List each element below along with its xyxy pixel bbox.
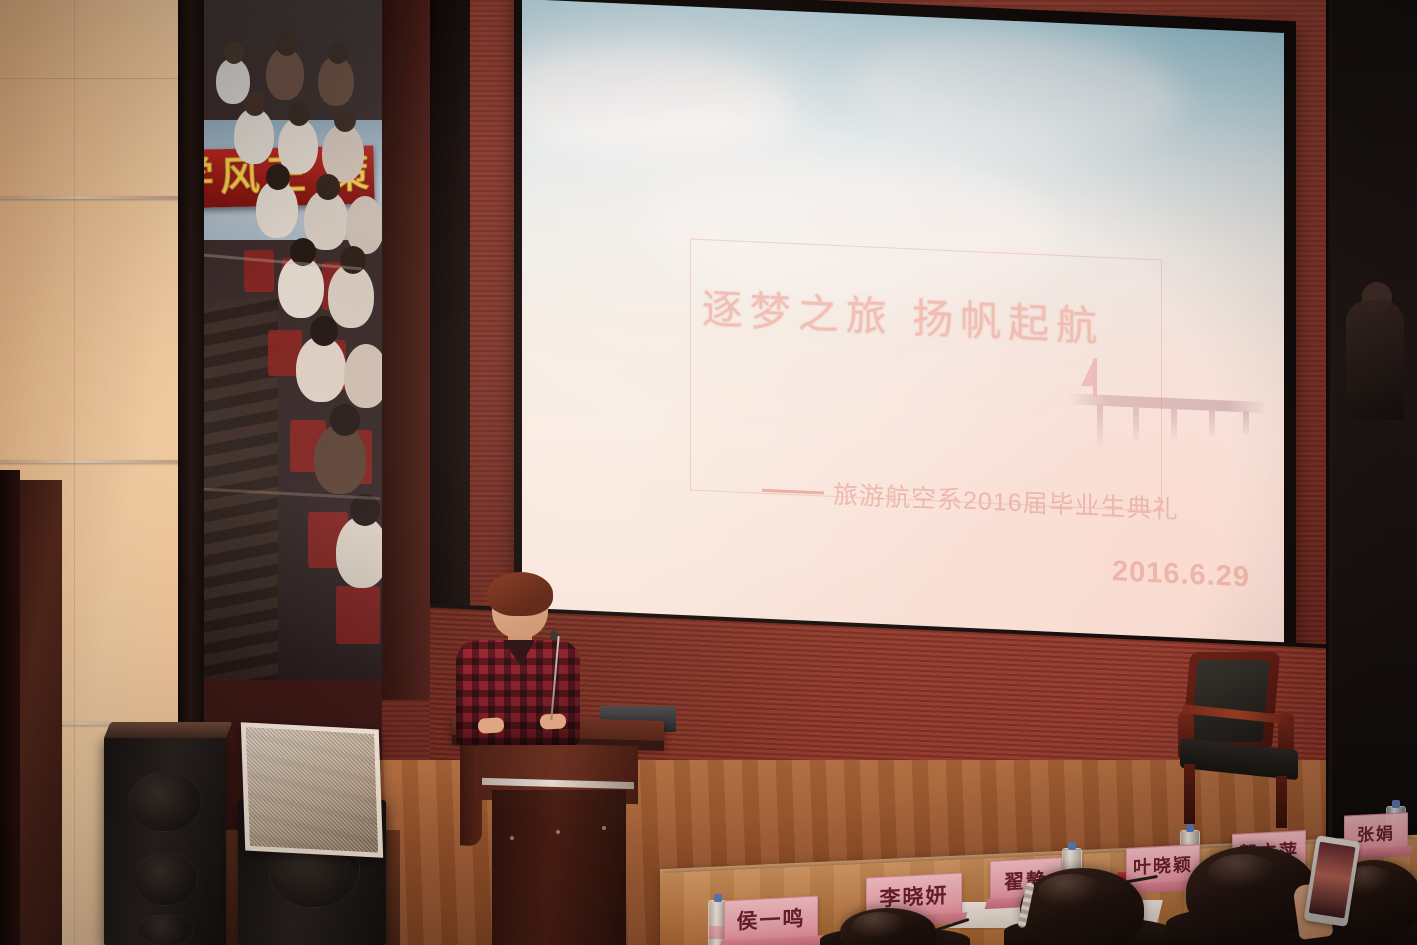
- control-booth-glass: [1332, 0, 1417, 880]
- wall-column-black: [430, 0, 470, 680]
- slide-date: 2016.6.29: [522, 529, 1250, 594]
- wall-seam: [0, 78, 200, 79]
- attendee-head: [1020, 868, 1144, 945]
- name-card: 侯一鸣: [724, 896, 818, 943]
- pa-speaker-cabinet: [104, 736, 226, 945]
- booth-operator: [1346, 300, 1404, 420]
- wall-trim: [0, 196, 200, 199]
- name-card-label: 侯一鸣: [737, 902, 806, 936]
- slide-pier-illustration: [1067, 375, 1267, 476]
- name-card-label: 张娟: [1357, 819, 1395, 846]
- stage-monitor-wedge: [241, 722, 383, 858]
- audience-gallery: 学风正 策: [186, 0, 382, 680]
- wall-trim: [0, 460, 200, 463]
- wooden-armchair: [1172, 652, 1302, 824]
- wooden-lectern: [492, 790, 626, 945]
- side-wall-edge-dark: [0, 470, 20, 945]
- presenter-hand-right: [540, 714, 567, 730]
- wall-seam: [74, 0, 75, 945]
- auditorium-photo: 逐梦之旅 扬帆起航 旅游航空系2016届毕业生典礼 2016.6.29: [0, 0, 1417, 945]
- slide-subtitle-dash: [762, 488, 824, 494]
- presenter-hand-left: [478, 717, 505, 734]
- name-card-label: 叶晓颖: [1133, 850, 1193, 879]
- smartphone-screen: [1309, 842, 1356, 919]
- projection-screen: 逐梦之旅 扬帆起航 旅游航空系2016届毕业生典礼 2016.6.29: [522, 0, 1284, 715]
- presenter-hair: [487, 572, 553, 616]
